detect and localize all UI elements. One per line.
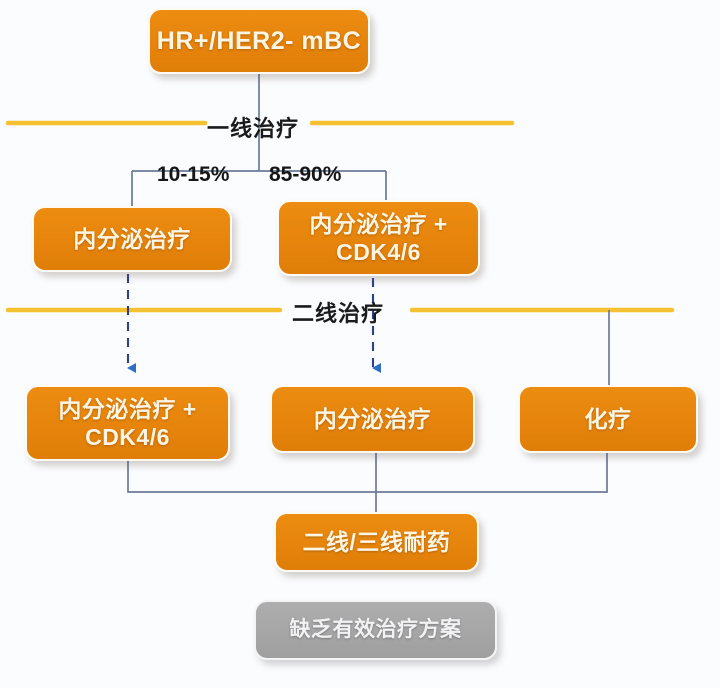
node-second-line-endocrine-cdk46-label: 内分泌治疗 +CDK4/6: [58, 395, 196, 451]
node-drug-resistance[interactable]: 二线/三线耐药: [274, 512, 479, 572]
node-first-line-endocrine-label: 内分泌治疗: [73, 225, 191, 253]
node-no-effective-option[interactable]: 缺乏有效治疗方案: [254, 600, 497, 660]
connector-layer: [0, 0, 720, 688]
node-second-line-endocrine-cdk46[interactable]: 内分泌治疗 +CDK4/6: [25, 385, 230, 461]
phase-label-first-line: 一线治疗: [207, 111, 299, 143]
percentage-endocrine-cdk46: 85-90%: [269, 163, 341, 187]
node-root-diagnosis[interactable]: HR+/HER2- mBC: [148, 8, 370, 74]
node-drug-resistance-label: 二线/三线耐药: [303, 528, 451, 556]
percentage-endocrine-only: 10-15%: [157, 163, 229, 187]
flowchart-canvas: HR+/HER2- mBC 内分泌治疗 内分泌治疗 +CDK4/6 内分泌治疗 …: [0, 0, 720, 688]
node-first-line-endocrine-cdk46[interactable]: 内分泌治疗 +CDK4/6: [277, 200, 480, 276]
node-second-line-endocrine[interactable]: 内分泌治疗: [270, 385, 475, 453]
wire-converge-to-resistance: [128, 453, 607, 512]
node-root-label: HR+/HER2- mBC: [157, 26, 361, 57]
node-second-line-endocrine-label: 内分泌治疗: [314, 405, 432, 433]
node-no-effective-option-label: 缺乏有效治疗方案: [290, 617, 462, 643]
node-second-line-chemotherapy-label: 化疗: [585, 405, 632, 433]
node-first-line-endocrine[interactable]: 内分泌治疗: [32, 206, 232, 272]
node-second-line-chemotherapy[interactable]: 化疗: [518, 385, 698, 453]
node-first-line-endocrine-cdk46-label: 内分泌治疗 +CDK4/6: [309, 210, 447, 266]
phase-label-second-line: 二线治疗: [292, 296, 384, 328]
